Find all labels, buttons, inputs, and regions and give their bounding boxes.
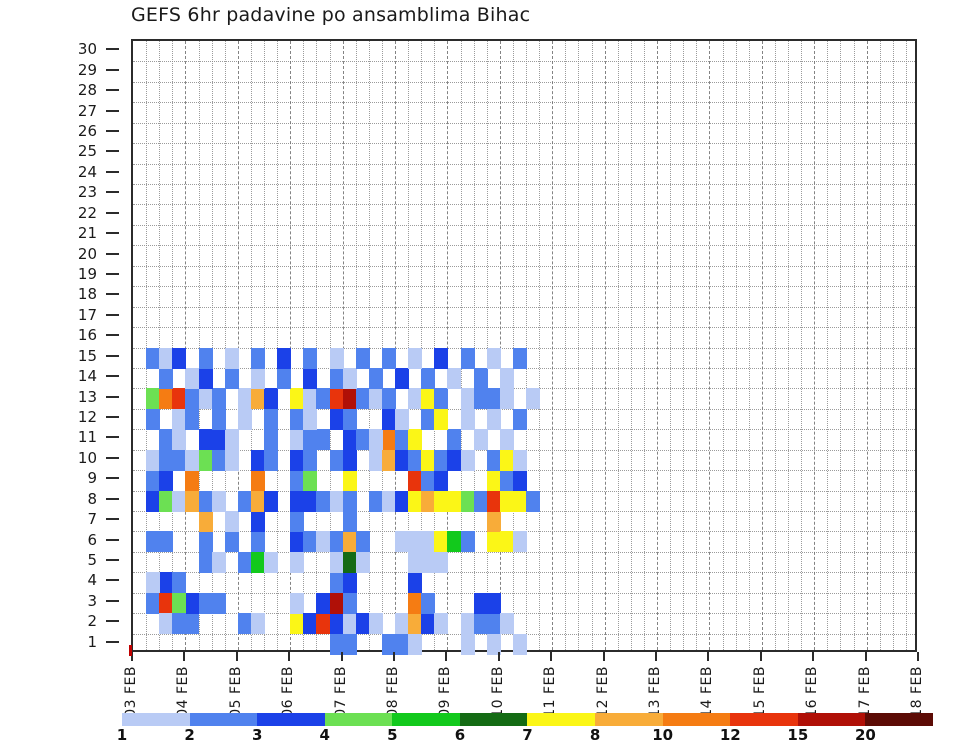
colorbar-band (663, 713, 731, 726)
colorbar-band (798, 713, 866, 726)
heatmap-cell (199, 531, 213, 552)
heatmap-cell (225, 531, 239, 552)
x-tick-label-text: 09 FEB (437, 666, 453, 718)
heatmap-cell (225, 429, 239, 450)
colorbar-band (865, 713, 933, 726)
heatmap-cell (264, 429, 278, 450)
heatmap-cell (343, 613, 357, 634)
heatmap-cell (251, 511, 265, 532)
heatmap-cell (447, 368, 461, 389)
heatmap-cell (199, 429, 213, 450)
heatmap-cell (500, 491, 514, 512)
colorbar-tick-label: 5 (387, 726, 397, 744)
x-tick-label: 09 FEB (436, 658, 454, 716)
y-tick-label: 24 (78, 163, 97, 181)
heatmap-cell (303, 470, 317, 491)
heatmap-cell (172, 348, 186, 369)
heatmap-cell (225, 511, 239, 532)
heatmap-cell (487, 613, 501, 634)
heatmap-cell (199, 450, 213, 471)
heatmap-cell (395, 429, 409, 450)
heatmap-cell (421, 450, 435, 471)
heatmap-cell (421, 491, 435, 512)
heatmap-cell (330, 368, 344, 389)
x-tick-label: 08 FEB (384, 658, 402, 716)
x-tick-label-text: 05 FEB (228, 666, 244, 718)
heatmap-cell (447, 450, 461, 471)
heatmap-cell (434, 613, 448, 634)
colorbar-band (325, 713, 393, 726)
heatmap-cell (303, 348, 317, 369)
heatmap-cell (434, 409, 448, 430)
heatmap-cell (199, 368, 213, 389)
heatmap-cell (343, 368, 357, 389)
y-tick-label: 18 (78, 285, 97, 303)
heatmap-cell (395, 531, 409, 552)
heatmap-cell (487, 491, 501, 512)
heatmap-cell (330, 572, 344, 593)
colorbar-band (595, 713, 663, 726)
heatmap-cell (159, 613, 173, 634)
y-tick-mark (106, 232, 119, 234)
heatmap-cell (526, 491, 540, 512)
colorbar-tick-label: 7 (522, 726, 532, 744)
heatmap-cell (356, 613, 370, 634)
heatmap-cell (159, 470, 173, 491)
heatmap-cell (251, 491, 265, 512)
heatmap-cell (461, 450, 475, 471)
heatmap-cell (159, 429, 173, 450)
heatmap-cell (461, 613, 475, 634)
heatmap-cell (421, 593, 435, 614)
heatmap-cell (199, 552, 213, 573)
heatmap-cell (421, 613, 435, 634)
heatmap-cell (330, 593, 344, 614)
heatmap-cell (382, 429, 396, 450)
heatmap-cell (421, 531, 435, 552)
heatmap-cell (500, 450, 514, 471)
heatmap-cell (487, 450, 501, 471)
heatmap-cell (199, 511, 213, 532)
heatmap-cell (251, 470, 265, 491)
heatmap-cell (343, 491, 357, 512)
heatmap-cell (290, 613, 304, 634)
heatmap-cell (146, 348, 160, 369)
heatmap-cell (343, 572, 357, 593)
heatmap-cell (251, 552, 265, 573)
heatmap-cell (251, 348, 265, 369)
heatmap-cell (330, 388, 344, 409)
heatmap-cell (185, 613, 199, 634)
heatmap-cell (290, 511, 304, 532)
heatmap-cell (447, 491, 461, 512)
origin-marker (129, 645, 132, 656)
heatmap-cell (264, 450, 278, 471)
y-tick-label: 12 (78, 408, 97, 426)
heatmap-cell (290, 491, 304, 512)
y-tick-label: 1 (87, 633, 97, 651)
x-tick-label-text: 10 FEB (490, 666, 506, 718)
heatmap-cell (343, 552, 357, 573)
heatmap-cell (172, 491, 186, 512)
heatmap-cell (408, 552, 422, 573)
heatmap-cell (343, 593, 357, 614)
heatmap-cell (316, 531, 330, 552)
heatmap-cell (172, 388, 186, 409)
heatmap-cell (447, 531, 461, 552)
colorbar-tick-label: 12 (720, 726, 741, 744)
y-tick-mark (106, 355, 119, 357)
heatmap-cell (513, 470, 527, 491)
heatmap-cell (238, 409, 252, 430)
heatmap-cell (421, 368, 435, 389)
heatmap-cell (159, 450, 173, 471)
x-tick-label-text: 06 FEB (280, 666, 296, 718)
colorbar-tick-label: 1 (117, 726, 127, 744)
heatmap-cell (487, 531, 501, 552)
x-tick-label: 13 FEB (646, 658, 664, 716)
heatmap-cell (212, 552, 226, 573)
heatmap-cell (251, 531, 265, 552)
heatmap-cell (408, 613, 422, 634)
y-tick-mark (106, 253, 119, 255)
y-tick-mark (106, 477, 119, 479)
x-tick-label: 14 FEB (698, 658, 716, 716)
y-tick-mark (106, 48, 119, 50)
y-tick-mark (106, 579, 119, 581)
y-tick-label: 13 (78, 388, 97, 406)
heatmap-cell (212, 450, 226, 471)
heatmap-cell (159, 388, 173, 409)
colorbar (122, 713, 933, 726)
y-tick-mark (106, 416, 119, 418)
heatmap-cell (316, 593, 330, 614)
heatmap-cell (185, 593, 199, 614)
heatmap-cell (251, 368, 265, 389)
colorbar-tick-label: 8 (590, 726, 600, 744)
heatmap-cell (369, 613, 383, 634)
heatmap-cell (185, 368, 199, 389)
heatmap-cell (146, 572, 160, 593)
colorbar-band (122, 713, 190, 726)
heatmap-cell (434, 470, 448, 491)
heatmap-cell (199, 491, 213, 512)
heatmap-cell (513, 450, 527, 471)
heatmap-cell (251, 613, 265, 634)
x-tick-label: 18 FEB (908, 658, 926, 716)
x-tick-label-text: 04 FEB (175, 666, 191, 718)
heatmap-cell (330, 348, 344, 369)
x-tick-label: 16 FEB (803, 658, 821, 716)
heatmap-cell (408, 531, 422, 552)
heatmap-plot-area (131, 39, 917, 652)
heatmap-cell (251, 450, 265, 471)
colorbar-band (190, 713, 258, 726)
y-tick-mark (106, 89, 119, 91)
heatmap-cell (369, 429, 383, 450)
heatmap-cell (434, 491, 448, 512)
x-axis: 03 FEB04 FEB05 FEB06 FEB07 FEB08 FEB09 F… (131, 652, 917, 714)
colorbar-tick-label: 4 (320, 726, 330, 744)
x-tick-label: 04 FEB (174, 658, 192, 716)
y-tick-mark (106, 559, 119, 561)
heatmap-cell (238, 388, 252, 409)
heatmap-cell (487, 409, 501, 430)
heatmap-cell (356, 348, 370, 369)
x-tick-label: 15 FEB (751, 658, 769, 716)
heatmap-cell (500, 470, 514, 491)
colorbar-tick-label: 2 (184, 726, 194, 744)
heatmap-cell (500, 368, 514, 389)
heatmap-cell (408, 572, 422, 593)
heatmap-cell (238, 613, 252, 634)
heatmap-cell (212, 593, 226, 614)
x-tick-label-text: 11 FEB (542, 666, 558, 718)
y-tick-mark (106, 396, 119, 398)
y-tick-label: 21 (78, 224, 97, 242)
y-tick-label: 6 (87, 531, 97, 549)
heatmap-cell (290, 429, 304, 450)
heatmap-cell (382, 409, 396, 430)
heatmap-cell (395, 450, 409, 471)
heatmap-cell (238, 552, 252, 573)
heatmap-cell (487, 593, 501, 614)
heatmap-cell (474, 491, 488, 512)
heatmap-cell (395, 409, 409, 430)
y-tick-label: 11 (78, 428, 97, 446)
heatmap-cell (159, 491, 173, 512)
heatmap-cell (343, 429, 357, 450)
x-tick-label: 10 FEB (489, 658, 507, 716)
y-tick-mark (106, 539, 119, 541)
heatmap-cell (290, 593, 304, 614)
heatmap-cell (408, 429, 422, 450)
y-tick-label: 5 (87, 551, 97, 569)
heatmap-cell (264, 491, 278, 512)
heatmap-cell (461, 348, 475, 369)
y-tick-mark (106, 375, 119, 377)
heatmap-cell (316, 388, 330, 409)
heatmap-cell (146, 531, 160, 552)
y-tick-label: 8 (87, 490, 97, 508)
y-tick-label: 26 (78, 122, 97, 140)
heatmap-cell (238, 491, 252, 512)
y-tick-mark (106, 620, 119, 622)
heatmap-cell (330, 613, 344, 634)
heatmap-cell (330, 552, 344, 573)
y-tick-label: 23 (78, 183, 97, 201)
heatmap-cell (303, 491, 317, 512)
x-tick-label-text: 13 FEB (647, 666, 663, 718)
heatmap-cell (487, 470, 501, 491)
heatmap-cell (356, 531, 370, 552)
heatmap-cell (434, 552, 448, 573)
x-tick-label-text: 03 FEB (123, 666, 139, 718)
y-tick-label: 4 (87, 571, 97, 589)
y-tick-label: 27 (78, 102, 97, 120)
heatmap-cell (172, 613, 186, 634)
y-tick-mark (106, 600, 119, 602)
heatmap-cell (343, 450, 357, 471)
heatmap-cell (487, 511, 501, 532)
heatmap-cell (461, 388, 475, 409)
colorbar-tick-labels: 1234567810121520 (122, 726, 933, 742)
heatmap-cell (277, 348, 291, 369)
heatmap-cell (474, 593, 488, 614)
colorbar-band (392, 713, 460, 726)
heatmap-cell (461, 491, 475, 512)
heatmap-cell (212, 429, 226, 450)
y-tick-label: 25 (78, 142, 97, 160)
heatmap-cell (395, 613, 409, 634)
heatmap-cell (199, 348, 213, 369)
y-tick-mark (106, 436, 119, 438)
heatmap-cell (330, 491, 344, 512)
heatmap-cell (185, 491, 199, 512)
heatmap-cell (225, 368, 239, 389)
heatmap-cell (434, 531, 448, 552)
heatmap-cell (172, 450, 186, 471)
heatmap-cell (225, 348, 239, 369)
heatmap-cell (474, 613, 488, 634)
colorbar-tick-label: 15 (787, 726, 808, 744)
heatmap-cell (461, 531, 475, 552)
y-tick-label: 2 (87, 612, 97, 630)
colorbar-tick-label: 20 (855, 726, 876, 744)
heatmap-cell (369, 388, 383, 409)
y-tick-mark (106, 171, 119, 173)
heatmap-cell (316, 613, 330, 634)
heatmap-cell (343, 531, 357, 552)
heatmap-cell (474, 368, 488, 389)
heatmap-cell (290, 552, 304, 573)
heatmap-cell (487, 388, 501, 409)
heatmap-cell (159, 348, 173, 369)
heatmap-cell (185, 450, 199, 471)
heatmap-cell (500, 531, 514, 552)
heatmap-cell (500, 388, 514, 409)
heatmap-cell (146, 593, 160, 614)
heatmap-cell (513, 531, 527, 552)
y-tick-label: 29 (78, 61, 97, 79)
heatmap-cell (316, 429, 330, 450)
heatmap-cell (303, 613, 317, 634)
heatmap-cell (212, 409, 226, 430)
x-tick-label: 03 FEB (122, 658, 140, 716)
heatmap-cell (356, 429, 370, 450)
heatmap-cell (461, 409, 475, 430)
heatmap-cell (303, 368, 317, 389)
chart-title: GEFS 6hr padavine po ansamblima Bihac (131, 4, 530, 26)
heatmap-cell (146, 409, 160, 430)
x-tick-label: 05 FEB (227, 658, 245, 716)
heatmap-cell (251, 388, 265, 409)
y-tick-label: 15 (78, 347, 97, 365)
x-tick-label: 07 FEB (332, 658, 350, 716)
heatmap-cell (343, 470, 357, 491)
y-tick-mark (106, 293, 119, 295)
heatmap-cell (421, 388, 435, 409)
heatmap-cell (434, 388, 448, 409)
x-tick-label: 11 FEB (541, 658, 559, 716)
colorbar-tick-label: 10 (652, 726, 673, 744)
heatmap-cell (382, 348, 396, 369)
heatmap-cell (526, 388, 540, 409)
heatmap-cell (343, 511, 357, 532)
heatmap-cell (316, 491, 330, 512)
heatmap-cell (199, 593, 213, 614)
colorbar-band (460, 713, 528, 726)
y-tick-mark (106, 273, 119, 275)
heatmap-cell (343, 409, 357, 430)
heatmap-cell (277, 368, 291, 389)
heatmap-cell (264, 388, 278, 409)
x-tick-label: 17 FEB (856, 658, 874, 716)
heatmap-cell (487, 348, 501, 369)
heatmap-cell (290, 470, 304, 491)
y-tick-mark (106, 334, 119, 336)
heatmap-cell (303, 409, 317, 430)
heatmap-cell (303, 531, 317, 552)
heatmap-cell (408, 450, 422, 471)
y-tick-mark (106, 212, 119, 214)
heatmap-cell (421, 552, 435, 573)
colorbar-band (730, 713, 798, 726)
heatmap-cell (408, 491, 422, 512)
y-tick-mark (106, 130, 119, 132)
heatmap-cell (330, 409, 344, 430)
y-tick-mark (106, 498, 119, 500)
heatmap-cell (159, 572, 173, 593)
heatmap-cell (408, 470, 422, 491)
y-tick-label: 22 (78, 204, 97, 222)
heatmap-cell (343, 388, 357, 409)
y-tick-label: 20 (78, 245, 97, 263)
heatmap-cell (146, 491, 160, 512)
heatmap-cell (212, 491, 226, 512)
heatmap-cell (330, 531, 344, 552)
heatmap-cell (408, 388, 422, 409)
x-tick-label: 12 FEB (594, 658, 612, 716)
heatmap-cell (369, 368, 383, 389)
x-tick-label-text: 18 FEB (909, 666, 925, 718)
heatmap-cell (185, 388, 199, 409)
y-tick-mark (106, 641, 119, 643)
x-tick-label-text: 17 FEB (857, 666, 873, 718)
heatmap-cell (513, 409, 527, 430)
heatmap-cell (474, 429, 488, 450)
heatmap-cell (212, 388, 226, 409)
colorbar-band (257, 713, 325, 726)
heatmap-cell (159, 368, 173, 389)
heatmap-cell (408, 593, 422, 614)
heatmap-cell (500, 429, 514, 450)
heatmap-cell (185, 470, 199, 491)
heatmap-cell (513, 348, 527, 369)
y-tick-label: 10 (78, 449, 97, 467)
heatmap-cell (382, 491, 396, 512)
heatmap-cell (434, 348, 448, 369)
heatmap-cell (264, 409, 278, 430)
y-tick-label: 7 (87, 510, 97, 528)
heatmap-cell (421, 470, 435, 491)
heatmap-cells (133, 41, 915, 650)
y-tick-mark (106, 150, 119, 152)
heatmap-cell (513, 491, 527, 512)
heatmap-cell (303, 388, 317, 409)
heatmap-cell (172, 429, 186, 450)
heatmap-cell (474, 388, 488, 409)
